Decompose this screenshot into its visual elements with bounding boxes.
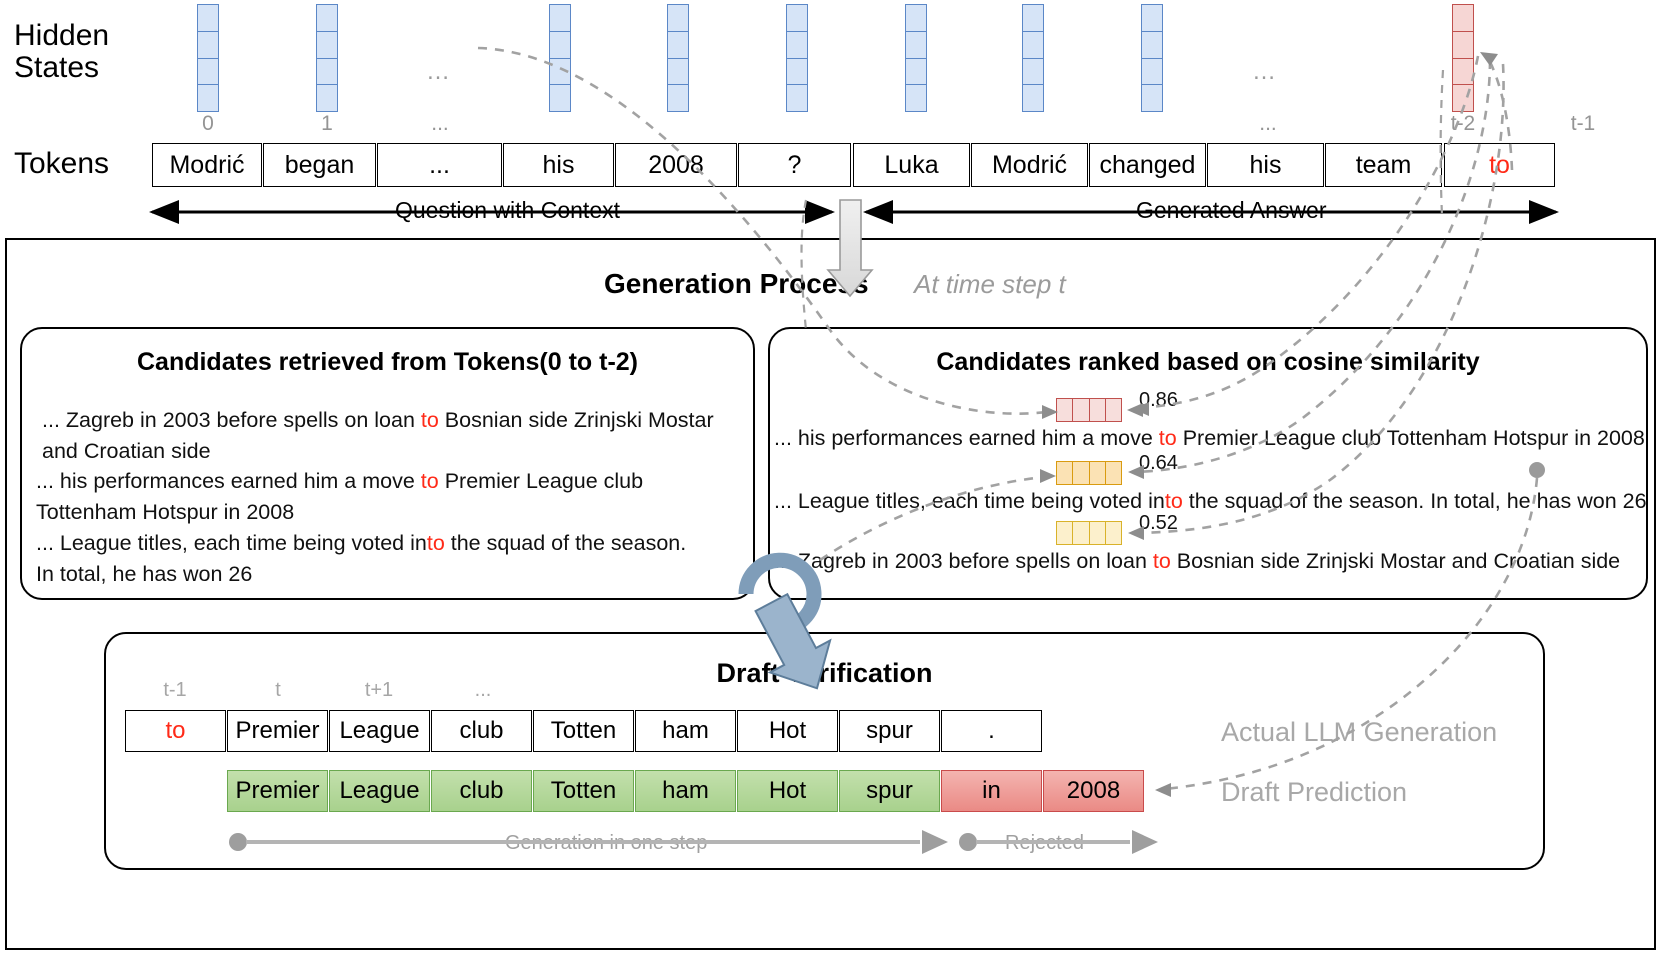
- hidden-states-row-label: HiddenStates: [14, 20, 154, 85]
- ranked-candidates-title: Candidates ranked based on cosine simila…: [768, 348, 1648, 377]
- retrieved-candidate-0-pre: ... Zagreb in 2003 before spells on loan: [42, 408, 421, 432]
- legend-draft-prediction: Draft Prediction: [1221, 777, 1407, 808]
- token-box-11[interactable]: to: [1444, 143, 1555, 187]
- similarity-score-1: 0.64: [1139, 452, 1178, 475]
- hidden-state-vector-9: [1141, 4, 1163, 112]
- actual-token-2[interactable]: League: [329, 710, 430, 752]
- retrieved-candidate-1-highlight: to: [421, 469, 439, 493]
- legend-actual-llm-generation: Actual LLM Generation: [1221, 717, 1497, 748]
- ranked-candidate-0-highlight: to: [1159, 426, 1177, 450]
- retrieved-candidate-0: ... Zagreb in 2003 before spells on loan…: [42, 405, 732, 466]
- hidden-state-vector-7: [905, 4, 927, 112]
- actual-token-1[interactable]: Premier: [227, 710, 328, 752]
- retrieved-candidate-2: ... League titles, each time being voted…: [36, 528, 696, 589]
- hidden-states-ellipsis-right: …: [1252, 58, 1278, 86]
- generation-process-subtitle: At time step t: [914, 269, 1066, 300]
- actual-token-6[interactable]: Hot: [737, 710, 838, 752]
- ranked-candidate-2-pre: ... Zagreb in 2003 before spells on loan: [774, 549, 1153, 573]
- draft-token-7[interactable]: in: [941, 770, 1042, 812]
- similarity-score-2: 0.52: [1139, 512, 1178, 535]
- retrieved-candidate-1-pre: ... his performances earned him a move: [36, 469, 421, 493]
- token-box-10[interactable]: team: [1325, 143, 1442, 187]
- span-label-question-with-context: Question with Context: [389, 197, 626, 224]
- ranked-candidate-1-pre: ... League titles, each time being voted…: [774, 489, 1165, 513]
- draft-token-4[interactable]: ham: [635, 770, 736, 812]
- hidden-state-index-ellipsis-right: ...: [1238, 112, 1298, 136]
- hidden-state-vector-6: [786, 4, 808, 112]
- similarity-score-0: 0.86: [1139, 389, 1178, 412]
- ranked-candidate-0-pre: ... his performances earned him a move: [774, 426, 1159, 450]
- hidden-state-vector-1: [316, 4, 338, 112]
- token-box-8[interactable]: changed: [1089, 143, 1206, 187]
- token-box-2[interactable]: ...: [377, 143, 502, 187]
- token-box-5[interactable]: ?: [738, 143, 851, 187]
- ranked-candidate-1: ... League titles, each time being voted…: [774, 486, 1647, 517]
- figure-canvas: HiddenStates Tokens … … 0 1 ... ... t-2 …: [0, 0, 1661, 954]
- retrieved-candidate-0-highlight: to: [421, 408, 439, 432]
- draft-token-1[interactable]: League: [329, 770, 430, 812]
- token-box-9[interactable]: his: [1207, 143, 1324, 187]
- hidden-state-vector-4: [667, 4, 689, 112]
- retrieved-candidate-2-highlight: to: [427, 531, 445, 555]
- ranked-candidate-2-post: Bosnian side Zrinjski Mostar and Croatia…: [1171, 549, 1620, 573]
- actual-token-4[interactable]: Totten: [533, 710, 634, 752]
- similarity-vector-2: [1056, 521, 1122, 545]
- generation-process-title: Generation Process: [604, 268, 869, 300]
- hidden-state-index-1: 1: [297, 112, 357, 136]
- hidden-state-index-0: 0: [178, 112, 238, 136]
- token-box-0[interactable]: Modrić: [152, 143, 262, 187]
- token-box-7[interactable]: Modrić: [971, 143, 1088, 187]
- retrieved-candidate-2-pre: ... League titles, each time being voted…: [36, 531, 427, 555]
- ranked-candidate-1-post: the squad of the season. In total, he ha…: [1183, 489, 1647, 513]
- ranked-candidate-2: ... Zagreb in 2003 before spells on loan…: [774, 546, 1620, 577]
- ranked-candidate-2-highlight: to: [1153, 549, 1171, 573]
- token-box-4[interactable]: 2008: [615, 143, 737, 187]
- ranked-candidate-1-highlight: to: [1165, 489, 1183, 513]
- actual-token-8[interactable]: .: [941, 710, 1042, 752]
- draft-token-6[interactable]: spur: [839, 770, 940, 812]
- ranked-candidate-0: ... his performances earned him a move t…: [774, 423, 1645, 454]
- hidden-state-vector-t-2: [1452, 4, 1474, 112]
- hidden-state-vector-8: [1022, 4, 1044, 112]
- span-label-generated-answer: Generated Answer: [1130, 197, 1333, 224]
- draft-time-mark-t: t: [238, 679, 318, 702]
- draft-time-mark-t+1: t+1: [339, 679, 419, 702]
- actual-token-7[interactable]: spur: [839, 710, 940, 752]
- actual-token-3[interactable]: club: [431, 710, 532, 752]
- tokens-row-label: Tokens: [14, 148, 109, 180]
- draft-verification-title: Draft Verification: [104, 658, 1545, 689]
- draft-token-3[interactable]: Totten: [533, 770, 634, 812]
- ranked-candidate-0-post: Premier League club Tottenham Hotspur in…: [1177, 426, 1645, 450]
- draft-token-0[interactable]: Premier: [227, 770, 328, 812]
- draft-token-5[interactable]: Hot: [737, 770, 838, 812]
- hidden-states-ellipsis-left: …: [426, 58, 452, 86]
- similarity-vector-1: [1056, 461, 1122, 485]
- bar-label-rejected: Rejected: [1000, 832, 1089, 855]
- draft-time-mark-t-1: t-1: [135, 679, 215, 702]
- bar-label-generation-in-one-step: Generation in one step: [500, 832, 712, 855]
- hidden-state-vector-3: [549, 4, 571, 112]
- draft-time-mark-ellipsis: ...: [443, 679, 523, 702]
- hidden-state-index-ellipsis-left: ...: [410, 112, 470, 136]
- token-box-1[interactable]: began: [263, 143, 376, 187]
- token-box-6[interactable]: Luka: [853, 143, 970, 187]
- token-box-3[interactable]: his: [503, 143, 614, 187]
- hidden-state-index-t-2: t-2: [1433, 112, 1493, 136]
- hidden-state-vector-0: [197, 4, 219, 112]
- actual-token-0[interactable]: to: [125, 710, 226, 752]
- actual-token-5[interactable]: ham: [635, 710, 736, 752]
- hidden-state-index-t-1: t-1: [1553, 112, 1613, 136]
- draft-token-8[interactable]: 2008: [1043, 770, 1144, 812]
- retrieved-candidates-title: Candidates retrieved from Tokens(0 to t-…: [20, 348, 755, 377]
- retrieved-candidate-1: ... his performances earned him a move t…: [36, 466, 726, 527]
- similarity-vector-0: [1056, 398, 1122, 422]
- draft-token-2[interactable]: club: [431, 770, 532, 812]
